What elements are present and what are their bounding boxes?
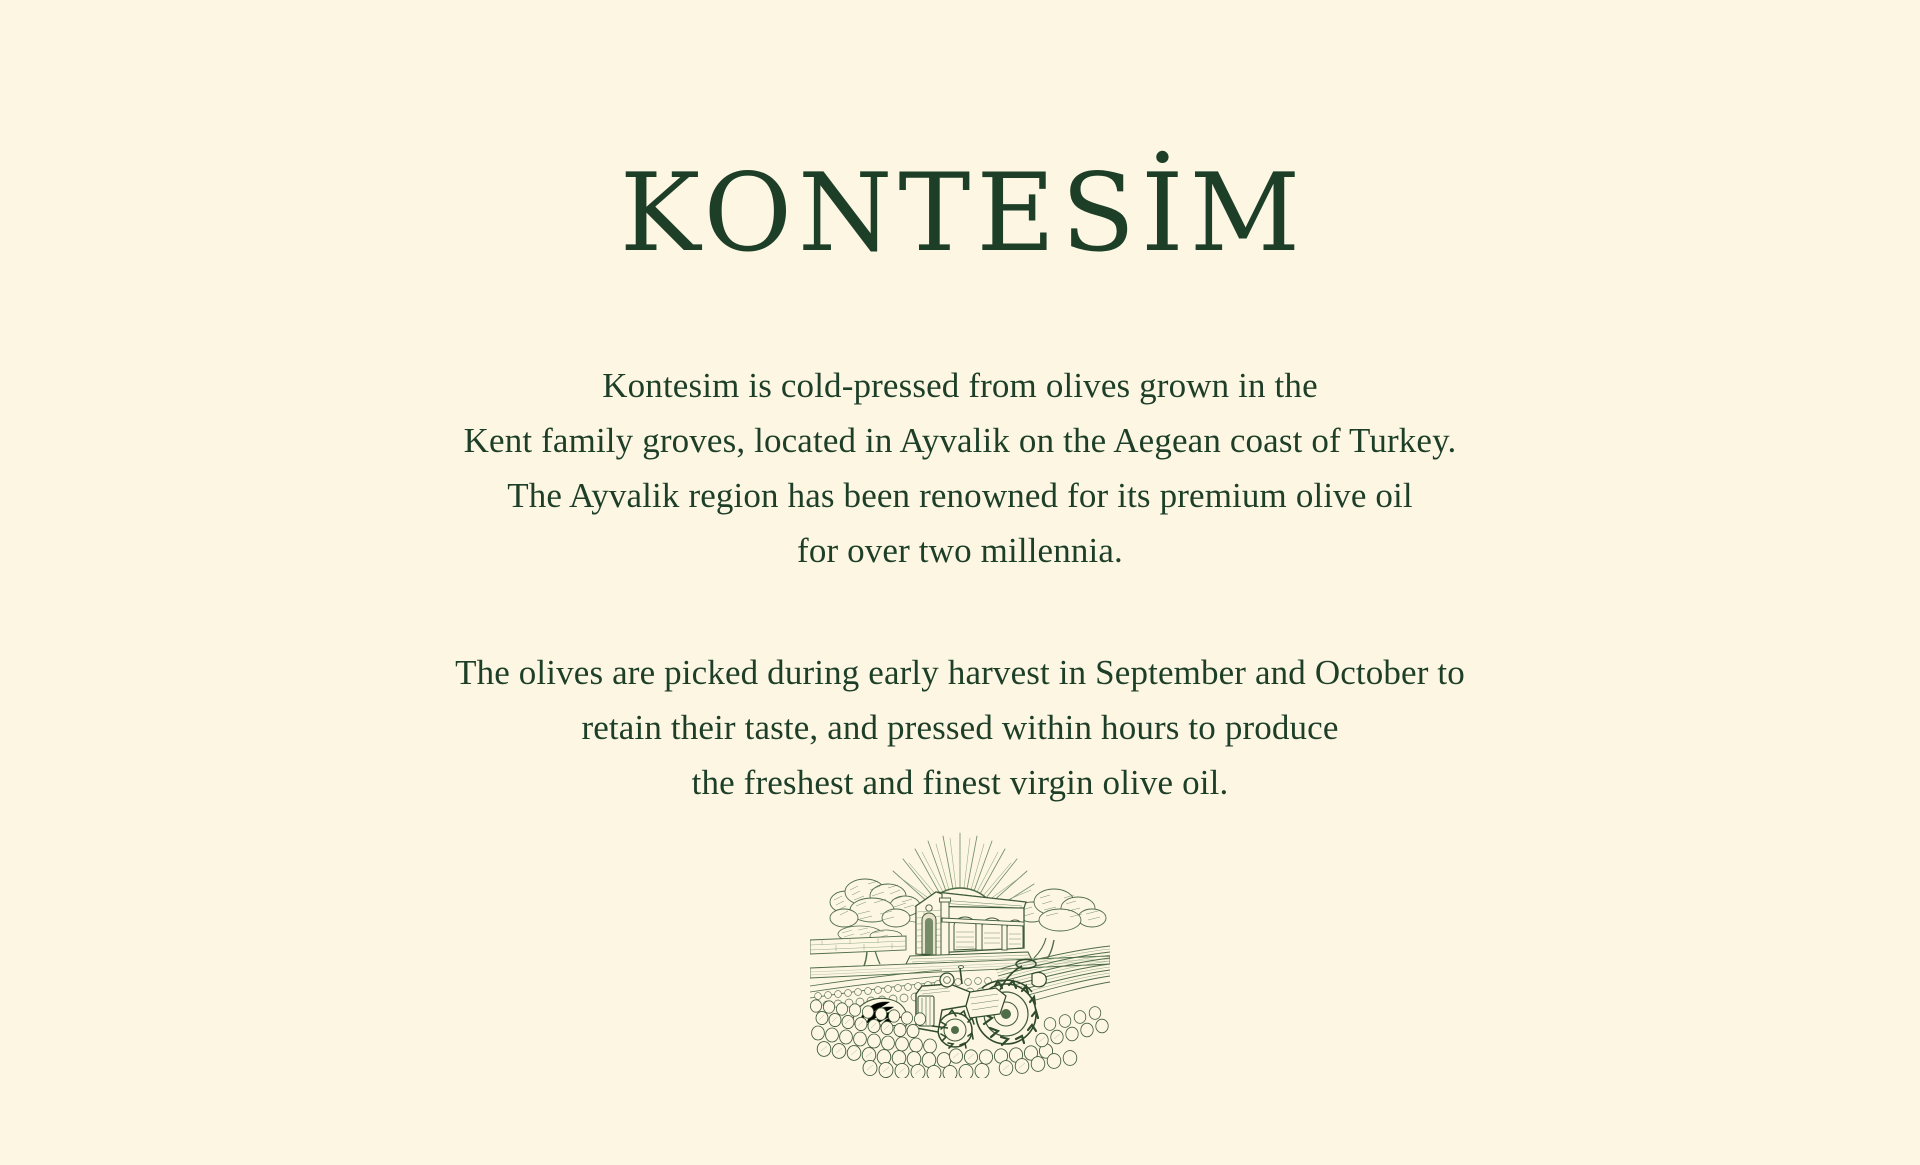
copy-line: Kontesim is cold-pressed from olives gro… xyxy=(0,358,1920,413)
copy-line: retain their taste, and pressed within h… xyxy=(0,700,1920,755)
copy-line: The Ayvalik region has been renowned for… xyxy=(0,468,1920,523)
page-title: KONTESİM xyxy=(0,160,1920,268)
copy-line: for over two millennia. xyxy=(0,523,1920,578)
olive-grove-farm-engraving-icon xyxy=(810,828,1110,1078)
copy-line: the freshest and finest virgin olive oil… xyxy=(0,755,1920,810)
paragraph-two: The olives are picked during early harve… xyxy=(0,645,1920,810)
copy-line: The olives are picked during early harve… xyxy=(0,645,1920,700)
paragraph-one: Kontesim is cold-pressed from olives gro… xyxy=(0,358,1920,578)
brand-story-page: KONTESİM Kontesim is cold-pressed from o… xyxy=(0,0,1920,1165)
copy-line: Kent family groves, located in Ayvalik o… xyxy=(0,413,1920,468)
